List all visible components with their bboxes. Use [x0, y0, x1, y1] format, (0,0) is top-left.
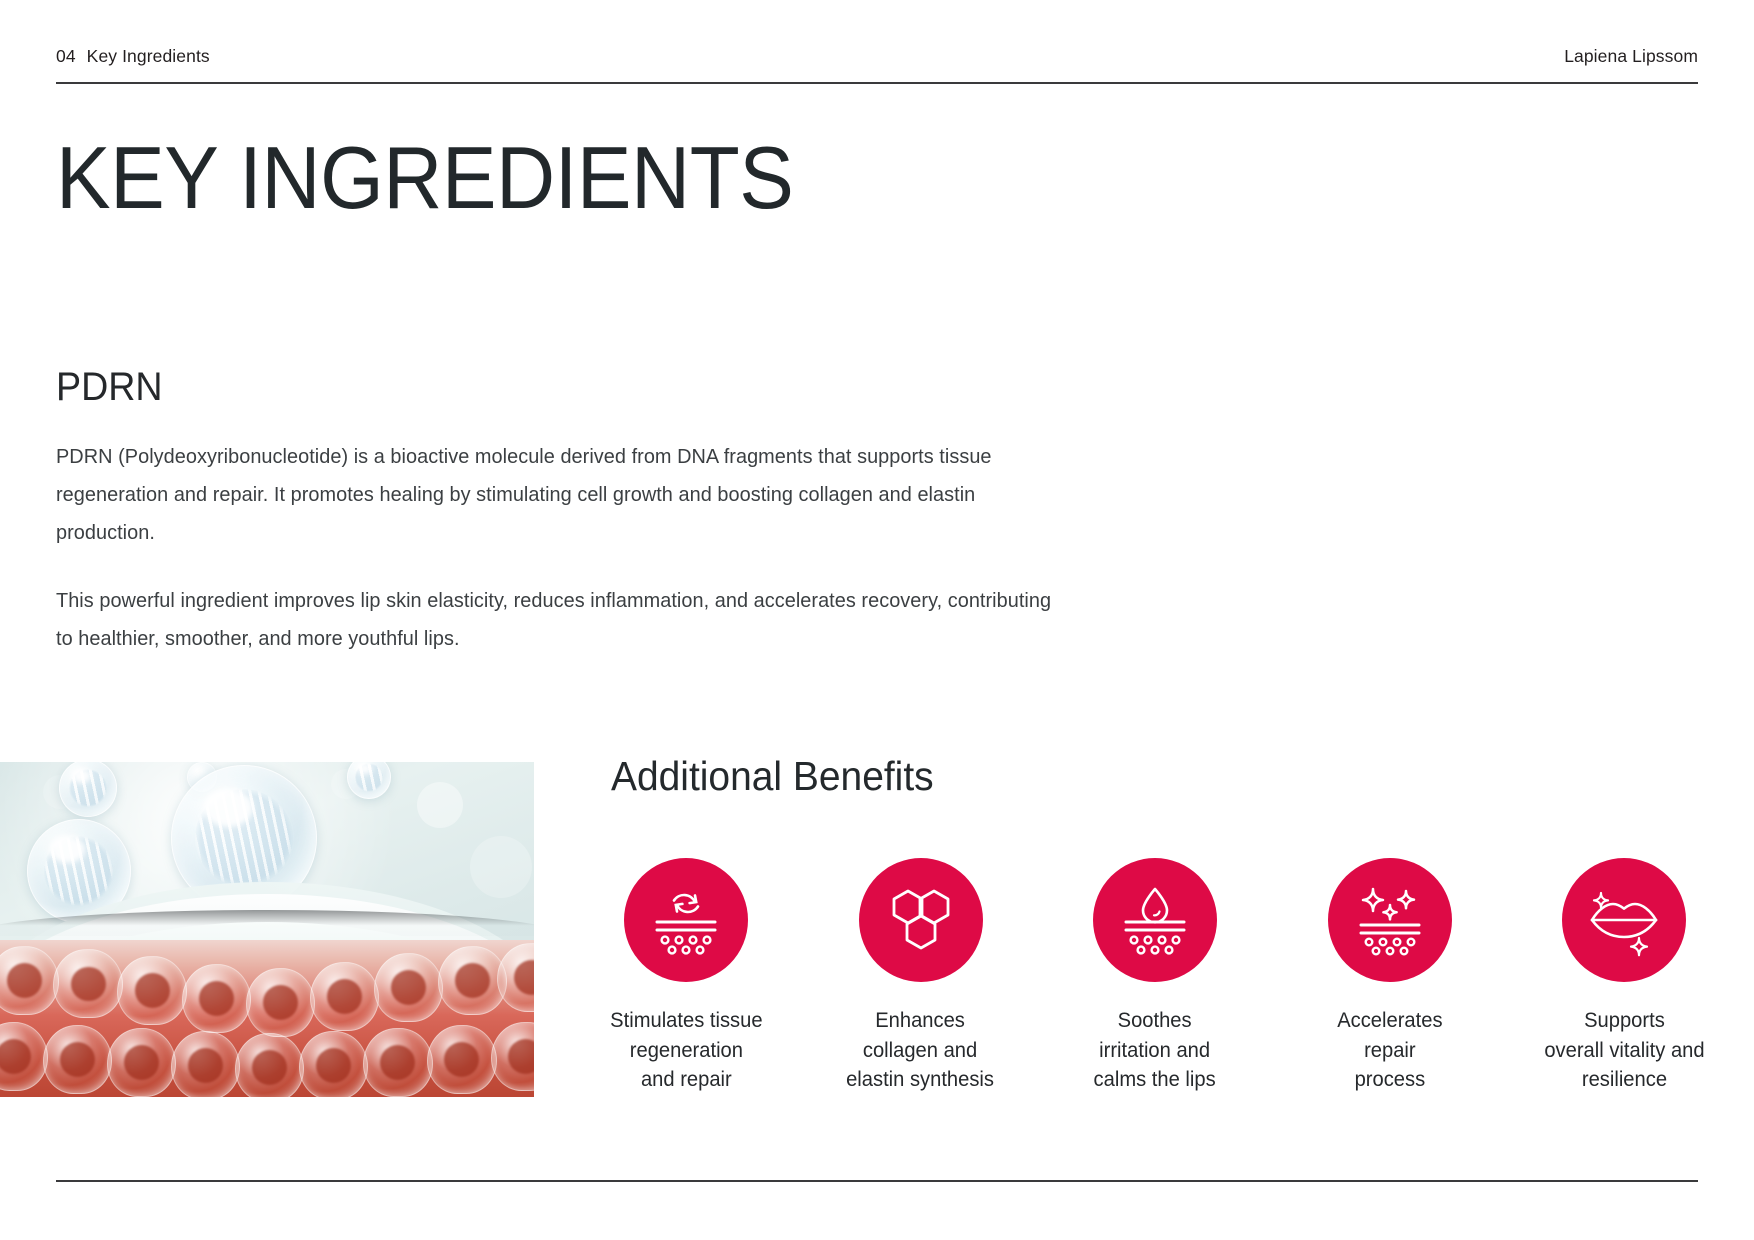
benefit-item: Stimulates tissueregenerationand repair [590, 858, 782, 1095]
footer-divider [56, 1180, 1698, 1182]
regeneration-cycle-icon [624, 858, 748, 982]
cell-grid [0, 940, 534, 1097]
brand-name: Lapiena Lipssom [1564, 46, 1698, 67]
page-title: KEY INGREDIENTS [56, 134, 793, 222]
page-number: 04 [56, 46, 76, 67]
benefit-label: Soothesirritation andcalms the lips [1094, 1006, 1216, 1095]
benefit-item: Supportsoverall vitality andresilience [1528, 858, 1720, 1095]
benefit-item: Enhancescollagen andelastin synthesis [825, 858, 1017, 1095]
ingredient-name: PDRN [56, 366, 163, 408]
benefit-label: Enhancescollagen andelastin synthesis [847, 1006, 995, 1095]
skin-cell-layer [0, 940, 534, 1097]
honeycomb-collagen-icon [859, 858, 983, 982]
paragraph-1: PDRN (Polydeoxyribonucleotide) is a bioa… [56, 438, 1055, 552]
section-name: Key Ingredients [87, 46, 210, 67]
benefit-label: Supportsoverall vitality andresilience [1544, 1006, 1704, 1095]
benefit-item: Acceleratesrepairprocess [1294, 858, 1486, 1095]
skin-cross-section-image [0, 762, 534, 1097]
ingredient-description: PDRN (Polydeoxyribonucleotide) is a bioa… [56, 438, 1086, 658]
lips-sparkle-icon [1562, 858, 1686, 982]
water-droplet-icon [1093, 858, 1217, 982]
benefit-label: Stimulates tissueregenerationand repair [610, 1006, 762, 1095]
slide-page: 04 Key Ingredients Lapiena Lipssom KEY I… [0, 0, 1754, 1240]
sparkles-icon [1328, 858, 1452, 982]
paragraph-2: This powerful ingredient improves lip sk… [56, 582, 1055, 658]
header-divider [56, 82, 1698, 84]
header-left-group: 04 Key Ingredients [56, 46, 210, 67]
benefit-label: Acceleratesrepairprocess [1337, 1006, 1442, 1095]
benefit-item: Soothesirritation andcalms the lips [1059, 858, 1251, 1095]
bubble-small-right [347, 762, 391, 799]
benefits-row: Stimulates tissueregenerationand repair … [590, 858, 1720, 1095]
bubble-small-top [59, 762, 117, 817]
benefits-heading: Additional Benefits [611, 755, 934, 798]
running-header: 04 Key Ingredients Lapiena Lipssom [56, 46, 1698, 80]
